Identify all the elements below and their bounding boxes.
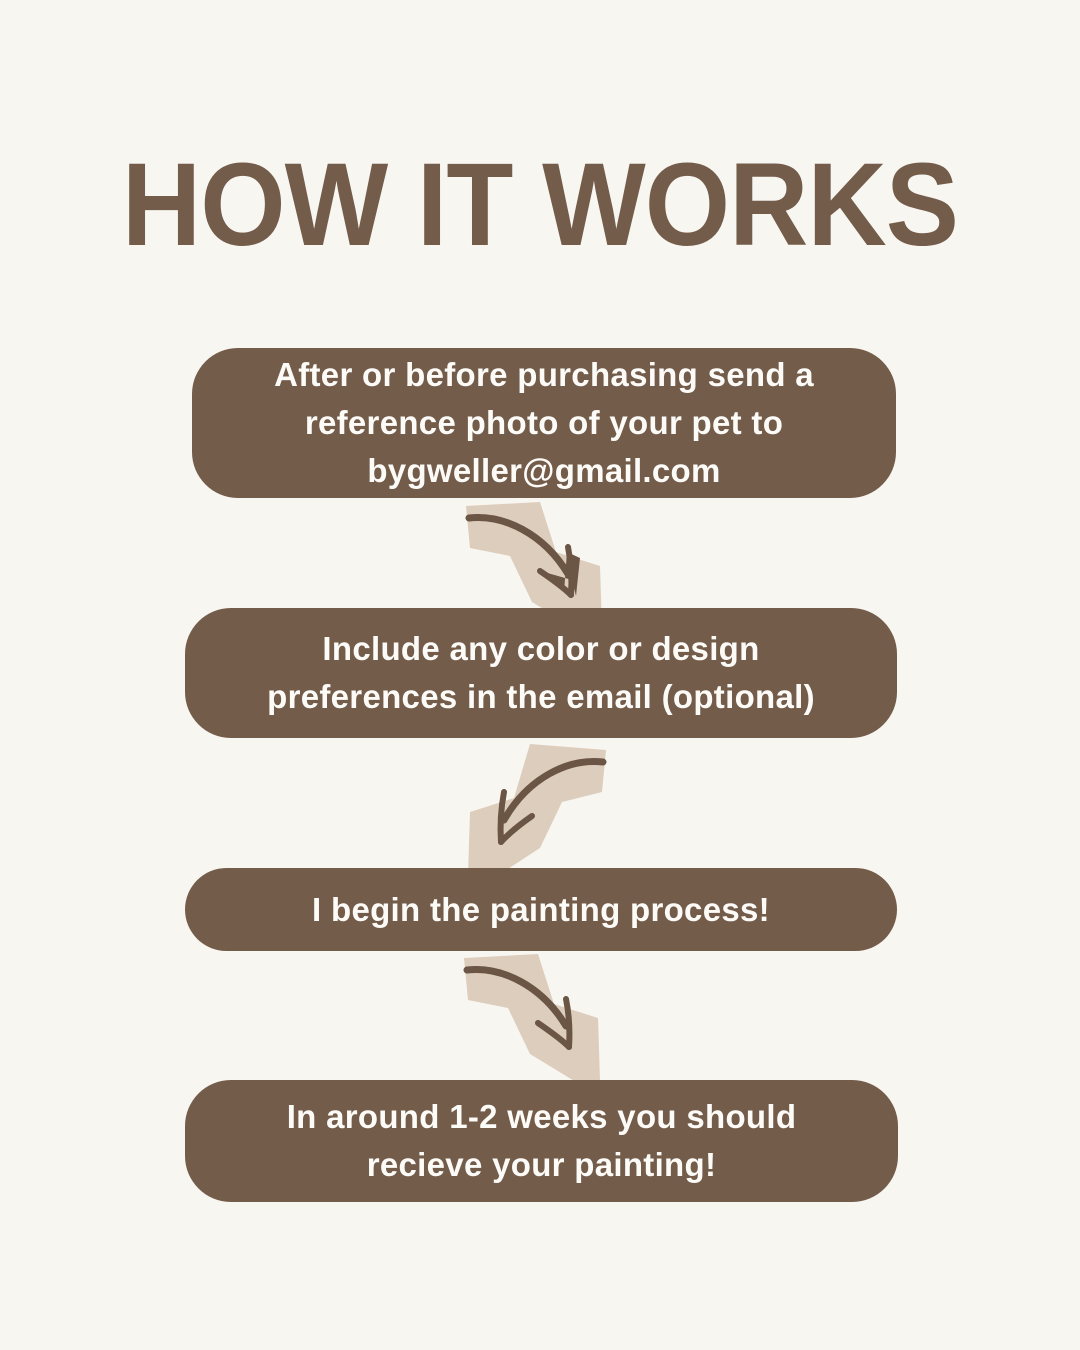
step-2-line-1: Include any color or design: [322, 630, 759, 667]
arrow-head-barb-lower: [501, 816, 532, 842]
arrow-head-barb-upper: [568, 547, 571, 595]
curved-arrow-down-left-icon: [452, 742, 622, 878]
arrow-head-barb-lower: [540, 571, 571, 595]
step-box-3: I begin the painting process!: [185, 868, 897, 951]
step-4-line-1: In around 1-2 weeks you should: [287, 1098, 797, 1135]
step-box-4: In around 1-2 weeks you should recieve y…: [185, 1080, 898, 1202]
arrow-head-barb-upper: [566, 999, 569, 1047]
arrow-highlight-shape: [468, 744, 606, 878]
step-4-line-2: recieve your painting!: [367, 1146, 717, 1183]
arrow-shaft: [467, 969, 566, 1026]
curved-arrow-down-right-icon: [450, 952, 620, 1082]
step-2-text: Include any color or design preferences …: [185, 625, 897, 721]
arrow-head-barb-upper: [501, 792, 504, 842]
arrow-head: [544, 552, 580, 596]
arrow-head-barb-lower: [538, 1023, 569, 1047]
arrow-highlight-shape: [464, 954, 600, 1082]
step-box-2: Include any color or design preferences …: [185, 608, 897, 738]
step-3-text: I begin the painting process!: [185, 888, 897, 932]
step-box-1: After or before purchasing send a refere…: [192, 348, 896, 498]
arrow-shaft: [469, 517, 568, 574]
step-4-text: In around 1-2 weeks you should recieve y…: [185, 1093, 898, 1189]
step-1-line-1: After or before purchasing send a: [274, 356, 814, 393]
infographic-page: HOW IT WORKS After or before purchasing …: [0, 0, 1080, 1350]
page-title: HOW IT WORKS: [38, 145, 1042, 265]
arrow-shaft: [504, 761, 603, 820]
step-2-line-2: preferences in the email (optional): [267, 678, 815, 715]
step-1-text: After or before purchasing send a refere…: [192, 351, 896, 495]
step-1-line-3-email: bygweller@gmail.com: [367, 452, 720, 489]
step-1-line-2: reference photo of your pet to: [305, 404, 783, 441]
